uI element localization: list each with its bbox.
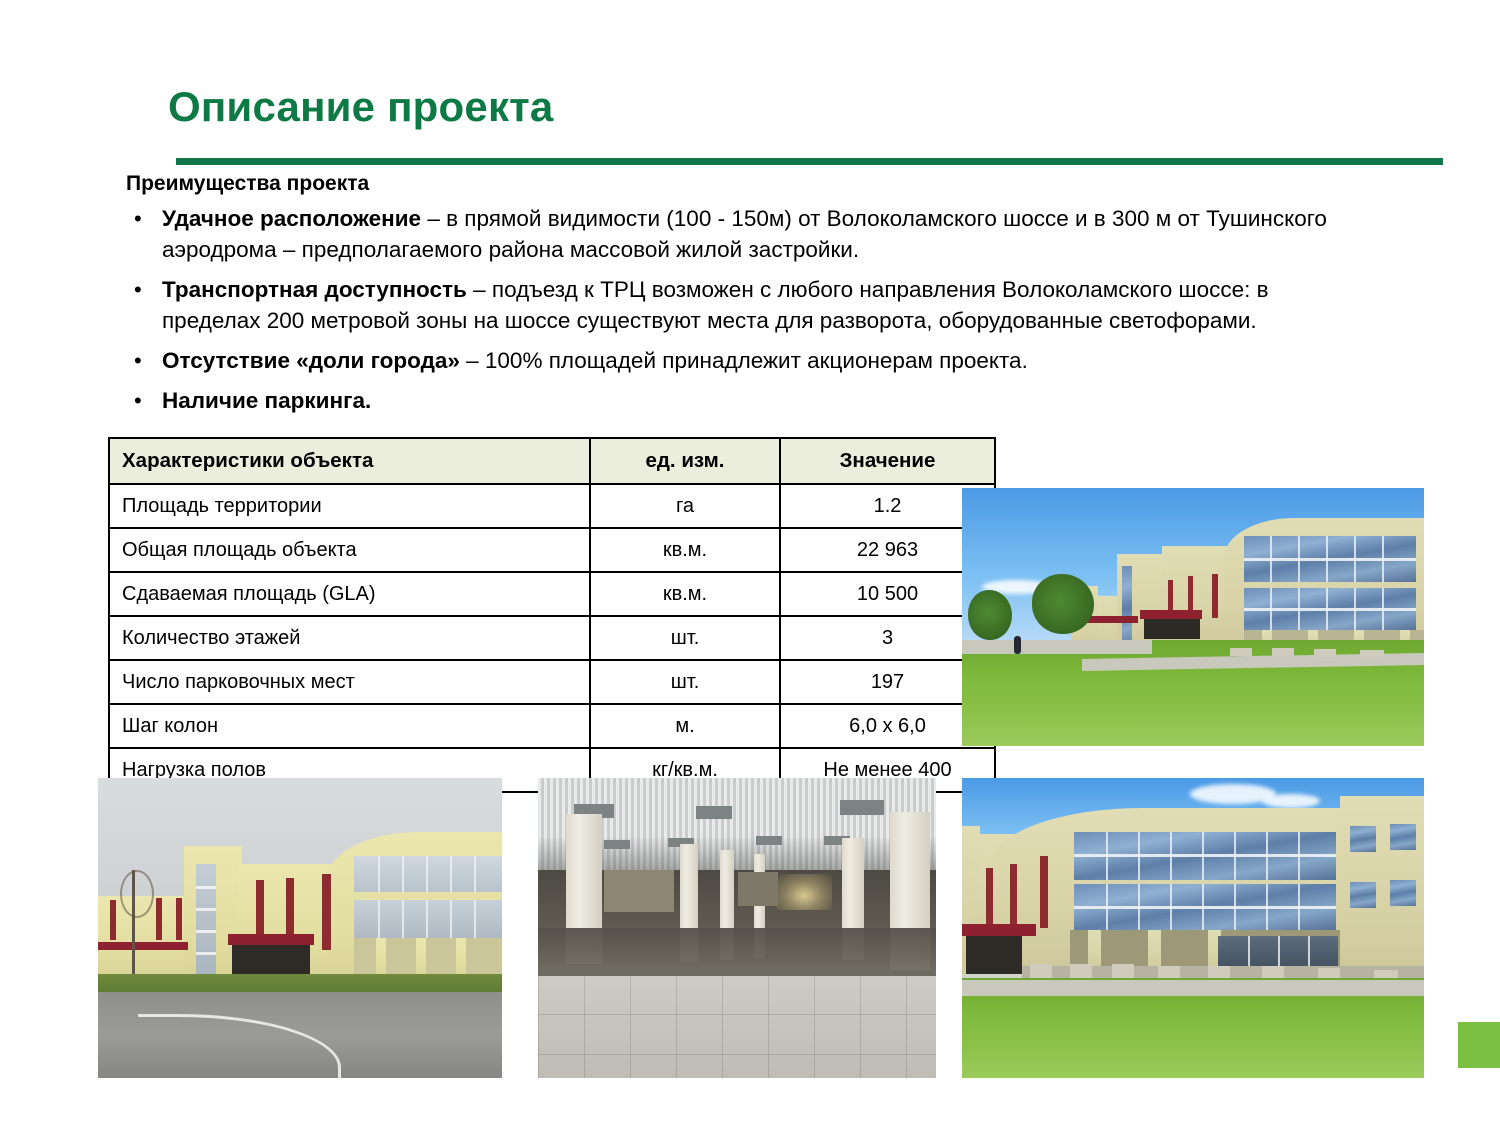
facade-glazing-upper (354, 856, 502, 892)
title-divider (176, 158, 1443, 165)
cell-characteristic: Сдаваемая площадь (GLA) (109, 572, 590, 616)
facade-accent-strip (1010, 864, 1017, 924)
ceiling-light (756, 836, 782, 845)
list-item: •Удачное расположение – в прямой видимос… (126, 203, 1346, 265)
facade-accent-strip (986, 868, 993, 924)
bullet-dot-icon: • (134, 203, 142, 234)
table-row: Общая площадь объекта кв.м. 22 963 (109, 528, 995, 572)
cell-characteristic: Количество этажей (109, 616, 590, 660)
facade-glazing-lower (1244, 588, 1416, 630)
facade-glazing-upper (1244, 536, 1416, 582)
slide-canvas: Описание проекта Преимущества проекта •У… (0, 0, 1500, 1125)
cell-unit: га (590, 484, 780, 528)
list-item-lead: Удачное расположение (162, 206, 421, 231)
facade-accent-strip (156, 898, 162, 940)
entrance-canopy (962, 924, 1036, 936)
cell-characteristic: Площадь территории (109, 484, 590, 528)
stair-glazing (1122, 566, 1132, 650)
facade-accent-strip (1188, 576, 1193, 610)
walkway (962, 640, 1152, 654)
cloud-icon (1262, 794, 1320, 808)
entrance-opening (966, 936, 1022, 974)
facade-accent-strip (1212, 574, 1218, 618)
table-row: Площадь территории га 1.2 (109, 484, 995, 528)
facade-accent-strip (1040, 856, 1048, 928)
bench (1230, 648, 1252, 656)
cell-characteristic: Общая площадь объекта (109, 528, 590, 572)
walkway (962, 980, 1424, 996)
tree (968, 590, 1012, 640)
back-wall-panel (738, 872, 778, 906)
cell-characteristic: Число парковочных мест (109, 660, 590, 704)
bench (1360, 650, 1384, 658)
entrance-canopy (1140, 610, 1202, 619)
facade-accent-strip (176, 898, 182, 940)
list-item-lead: Транспортная доступность (162, 277, 467, 302)
back-wall-panel (604, 870, 674, 912)
bullet-dot-icon: • (134, 345, 142, 376)
bullet-dot-icon: • (134, 385, 142, 416)
bench (1314, 649, 1336, 657)
entrance-opening (1144, 619, 1200, 639)
list-item-lead: Отсутствие «доли города» (162, 348, 460, 373)
cell-unit: шт. (590, 616, 780, 660)
tree (1032, 574, 1094, 634)
column-header-unit: ед. изм. (590, 438, 780, 484)
bench (1272, 648, 1294, 656)
tiled-floor (538, 974, 936, 1078)
photo-exterior-main-facade (962, 778, 1424, 1078)
page-title: Описание проекта (168, 83, 554, 131)
facade-glazing-upper (1074, 832, 1336, 880)
table-row: Шаг колон м. 6,0 х 6,0 (109, 704, 995, 748)
list-item: •Отсутствие «доли города» – 100% площаде… (126, 345, 1346, 376)
floor-joint (538, 970, 936, 976)
table-row: Сдаваемая площадь (GLA) кв.м. 10 500 (109, 572, 995, 616)
facade-accent-strip (110, 900, 116, 940)
window (1390, 880, 1416, 906)
list-item-lead: Наличие паркинга. (162, 388, 371, 413)
photo-exterior-sunny-side (962, 488, 1424, 746)
bare-tree-crown (120, 870, 154, 918)
decorative-corner-bar (1458, 1022, 1500, 1068)
window (1390, 824, 1416, 850)
facade-accent-strip (1168, 580, 1173, 610)
facade-accent-strip (322, 874, 331, 950)
facade-glazing-lower (354, 900, 502, 938)
entrance-canopy (228, 934, 314, 945)
window (1350, 826, 1376, 852)
photo-exterior-overcast (98, 778, 502, 1078)
advantages-list: •Удачное расположение – в прямой видимос… (126, 203, 1346, 425)
table-row: Число парковочных мест шт. 197 (109, 660, 995, 704)
facade-accent-strip (256, 880, 264, 934)
ceiling-light (604, 840, 630, 849)
column (376, 938, 386, 976)
facade-glazing-lower (1074, 884, 1336, 930)
section-subheading: Преимущества проекта (126, 172, 369, 196)
cell-unit: шт. (590, 660, 780, 704)
list-item: •Наличие паркинга. (126, 385, 1346, 416)
object-specs-table: Характеристики объекта ед. изм. Значение… (108, 437, 996, 793)
cell-unit: кв.м. (590, 528, 780, 572)
column (456, 938, 466, 976)
person (1014, 636, 1021, 654)
bullet-dot-icon: • (134, 274, 142, 305)
ceiling-light (696, 806, 732, 819)
cell-unit: кв.м. (590, 572, 780, 616)
table-header-row: Характеристики объекта ед. изм. Значение (109, 438, 995, 484)
entrance-opening (232, 945, 310, 975)
facade-accent-strip (286, 878, 294, 934)
column-header-characteristic: Характеристики объекта (109, 438, 590, 484)
far-end-light (776, 874, 832, 910)
list-item: •Транспортная доступность – подъезд к ТР… (126, 274, 1346, 336)
ceiling-light (840, 800, 884, 815)
window (1350, 882, 1376, 908)
stair-glazing (196, 864, 216, 974)
cell-characteristic: Шаг колон (109, 704, 590, 748)
photo-interior-hall (538, 778, 936, 1078)
cell-unit: м. (590, 704, 780, 748)
list-item-text: – 100% площадей принадлежит акционерам п… (460, 348, 1028, 373)
table-row: Количество этажей шт. 3 (109, 616, 995, 660)
column (416, 938, 426, 976)
entrance-canopy (98, 942, 188, 950)
column-header-value: Значение (780, 438, 995, 484)
